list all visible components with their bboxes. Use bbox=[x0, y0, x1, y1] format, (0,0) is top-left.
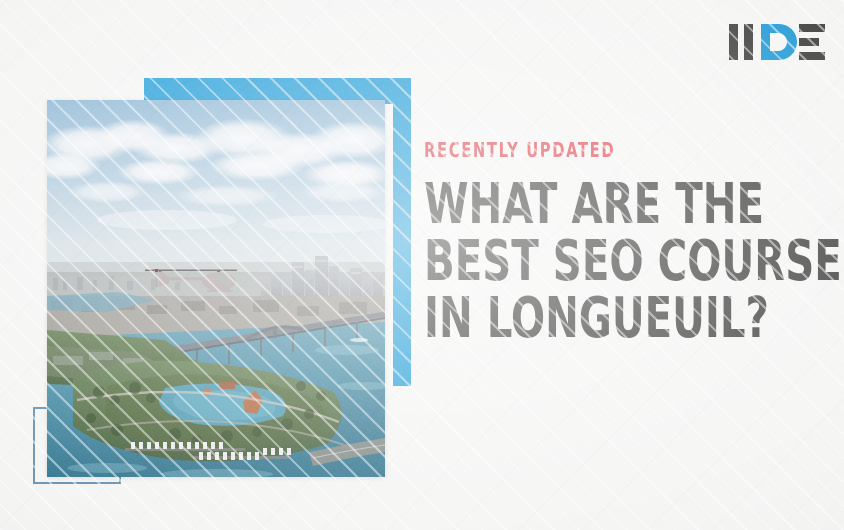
banner-copy: RECENTLY UPDATED WHAT ARE THE BEST SEO C… bbox=[424, 140, 824, 347]
headline-line-3: IN LONGUEUIL? bbox=[424, 290, 744, 347]
logo-letter-d bbox=[761, 24, 797, 60]
iide-logo-mark bbox=[729, 22, 825, 62]
headline-line-1: WHAT ARE THE bbox=[424, 176, 744, 233]
banner-photo bbox=[47, 100, 385, 477]
iide-logo[interactable] bbox=[729, 22, 825, 62]
photo-illustration bbox=[47, 100, 385, 477]
logo-bar-1 bbox=[729, 24, 738, 60]
logo-bar-2 bbox=[744, 24, 753, 60]
page-title: WHAT ARE THE BEST SEO COURSES IN LONGUEU… bbox=[424, 176, 824, 347]
logo-e-top bbox=[799, 24, 825, 32]
eyebrow-label: RECENTLY UPDATED bbox=[424, 140, 752, 160]
headline-line-2: BEST SEO COURSES bbox=[424, 233, 744, 290]
blue-accent-right-bar bbox=[393, 78, 411, 386]
blog-banner: RECENTLY UPDATED WHAT ARE THE BEST SEO C… bbox=[0, 0, 844, 530]
logo-e-mid bbox=[799, 38, 819, 46]
logo-e-bottom bbox=[799, 52, 825, 60]
